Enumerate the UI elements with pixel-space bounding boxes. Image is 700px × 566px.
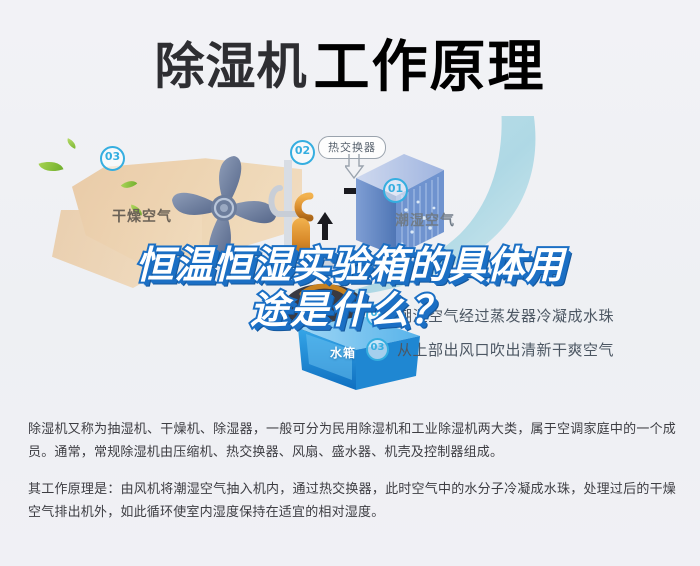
legend-text-02: 潮湿空气经过蒸发器冷凝成水珠 bbox=[397, 305, 614, 326]
legend-badge-03: 03 bbox=[366, 338, 389, 361]
badge-01-humid-air: 01 bbox=[383, 178, 408, 203]
legend-item: 03 从上部出风口吹出清新干爽空气 bbox=[366, 332, 696, 366]
body-paragraph-1: 除湿机又称为抽湿机、干燥机、除湿器，一般可分为民用除湿机和工业除湿机两大类，属于… bbox=[28, 418, 676, 464]
legend-badge-02: 02 bbox=[366, 304, 389, 327]
page-title-part1: 除湿机 bbox=[155, 38, 308, 96]
badge-03-dry-air: 03 bbox=[100, 146, 125, 171]
water-tank-label: 水箱 bbox=[330, 344, 356, 361]
legend-text-03: 从上部出风口吹出清新干爽空气 bbox=[397, 339, 614, 360]
label-humid-air: 潮湿空气 bbox=[395, 210, 455, 230]
article-body: 除湿机又称为抽湿机、干燥机、除湿器，一般可分为民用除湿机和工业除湿机两大类，属于… bbox=[28, 418, 676, 524]
body-paragraph-2: 其工作原理是：由风机将潮湿空气抽入机内，通过热交换器，此时空气中的水分子冷凝成水… bbox=[28, 478, 676, 524]
label-dry-air: 干燥空气 bbox=[112, 206, 172, 226]
badge-02-heat-exchanger: 02 bbox=[290, 140, 315, 165]
callout-pointer-icon bbox=[345, 154, 371, 180]
page-title-part2: 工作原理 bbox=[314, 35, 546, 100]
diagram-legend: 02 潮湿空气经过蒸发器冷凝成水珠 03 从上部出风口吹出清新干爽空气 bbox=[366, 298, 696, 366]
legend-item: 02 潮湿空气经过蒸发器冷凝成水珠 bbox=[366, 298, 696, 332]
infographic-page: 除湿机工作原理 bbox=[0, 0, 700, 566]
leaf-icon bbox=[39, 157, 64, 176]
leaf-icon bbox=[65, 138, 78, 149]
page-title: 除湿机工作原理 bbox=[0, 22, 700, 103]
